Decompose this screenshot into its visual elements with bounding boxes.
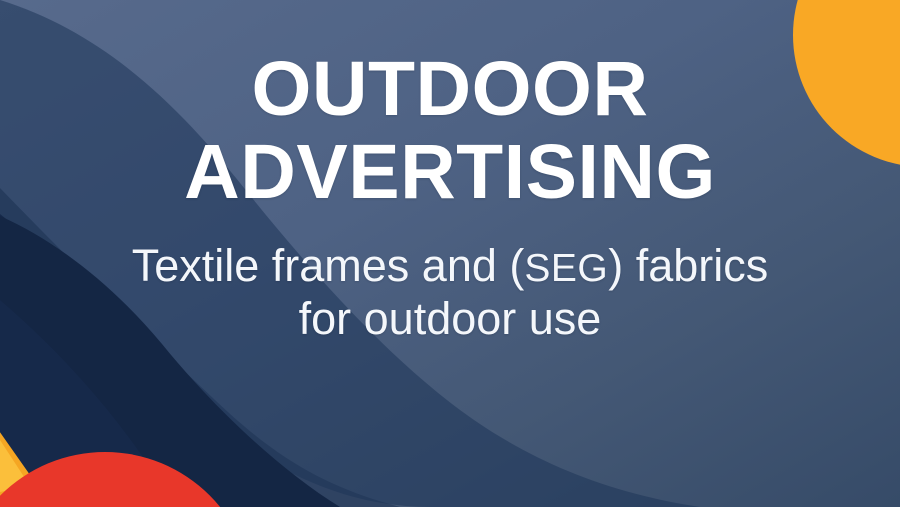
title-line-two: ADVERTISING — [184, 135, 716, 210]
slide-content: OUTDOOR ADVERTISING Textile frames and (… — [0, 0, 900, 507]
subtitle-text-before: Textile frames and ( — [132, 240, 525, 291]
slide-canvas: OUTDOOR ADVERTISING Textile frames and (… — [0, 0, 900, 507]
page-subtitle: Textile frames and (SEG) fabrics for out… — [132, 239, 769, 345]
subtitle-text-after: ) fabrics — [608, 240, 768, 291]
title-line-one: OUTDOOR — [184, 52, 716, 127]
page-title: OUTDOOR ADVERTISING — [184, 52, 716, 211]
subtitle-seg-acronym: SEG — [524, 247, 608, 290]
subtitle-line-two: for outdoor use — [132, 292, 769, 345]
subtitle-line-one: Textile frames and (SEG) fabrics — [132, 239, 769, 292]
